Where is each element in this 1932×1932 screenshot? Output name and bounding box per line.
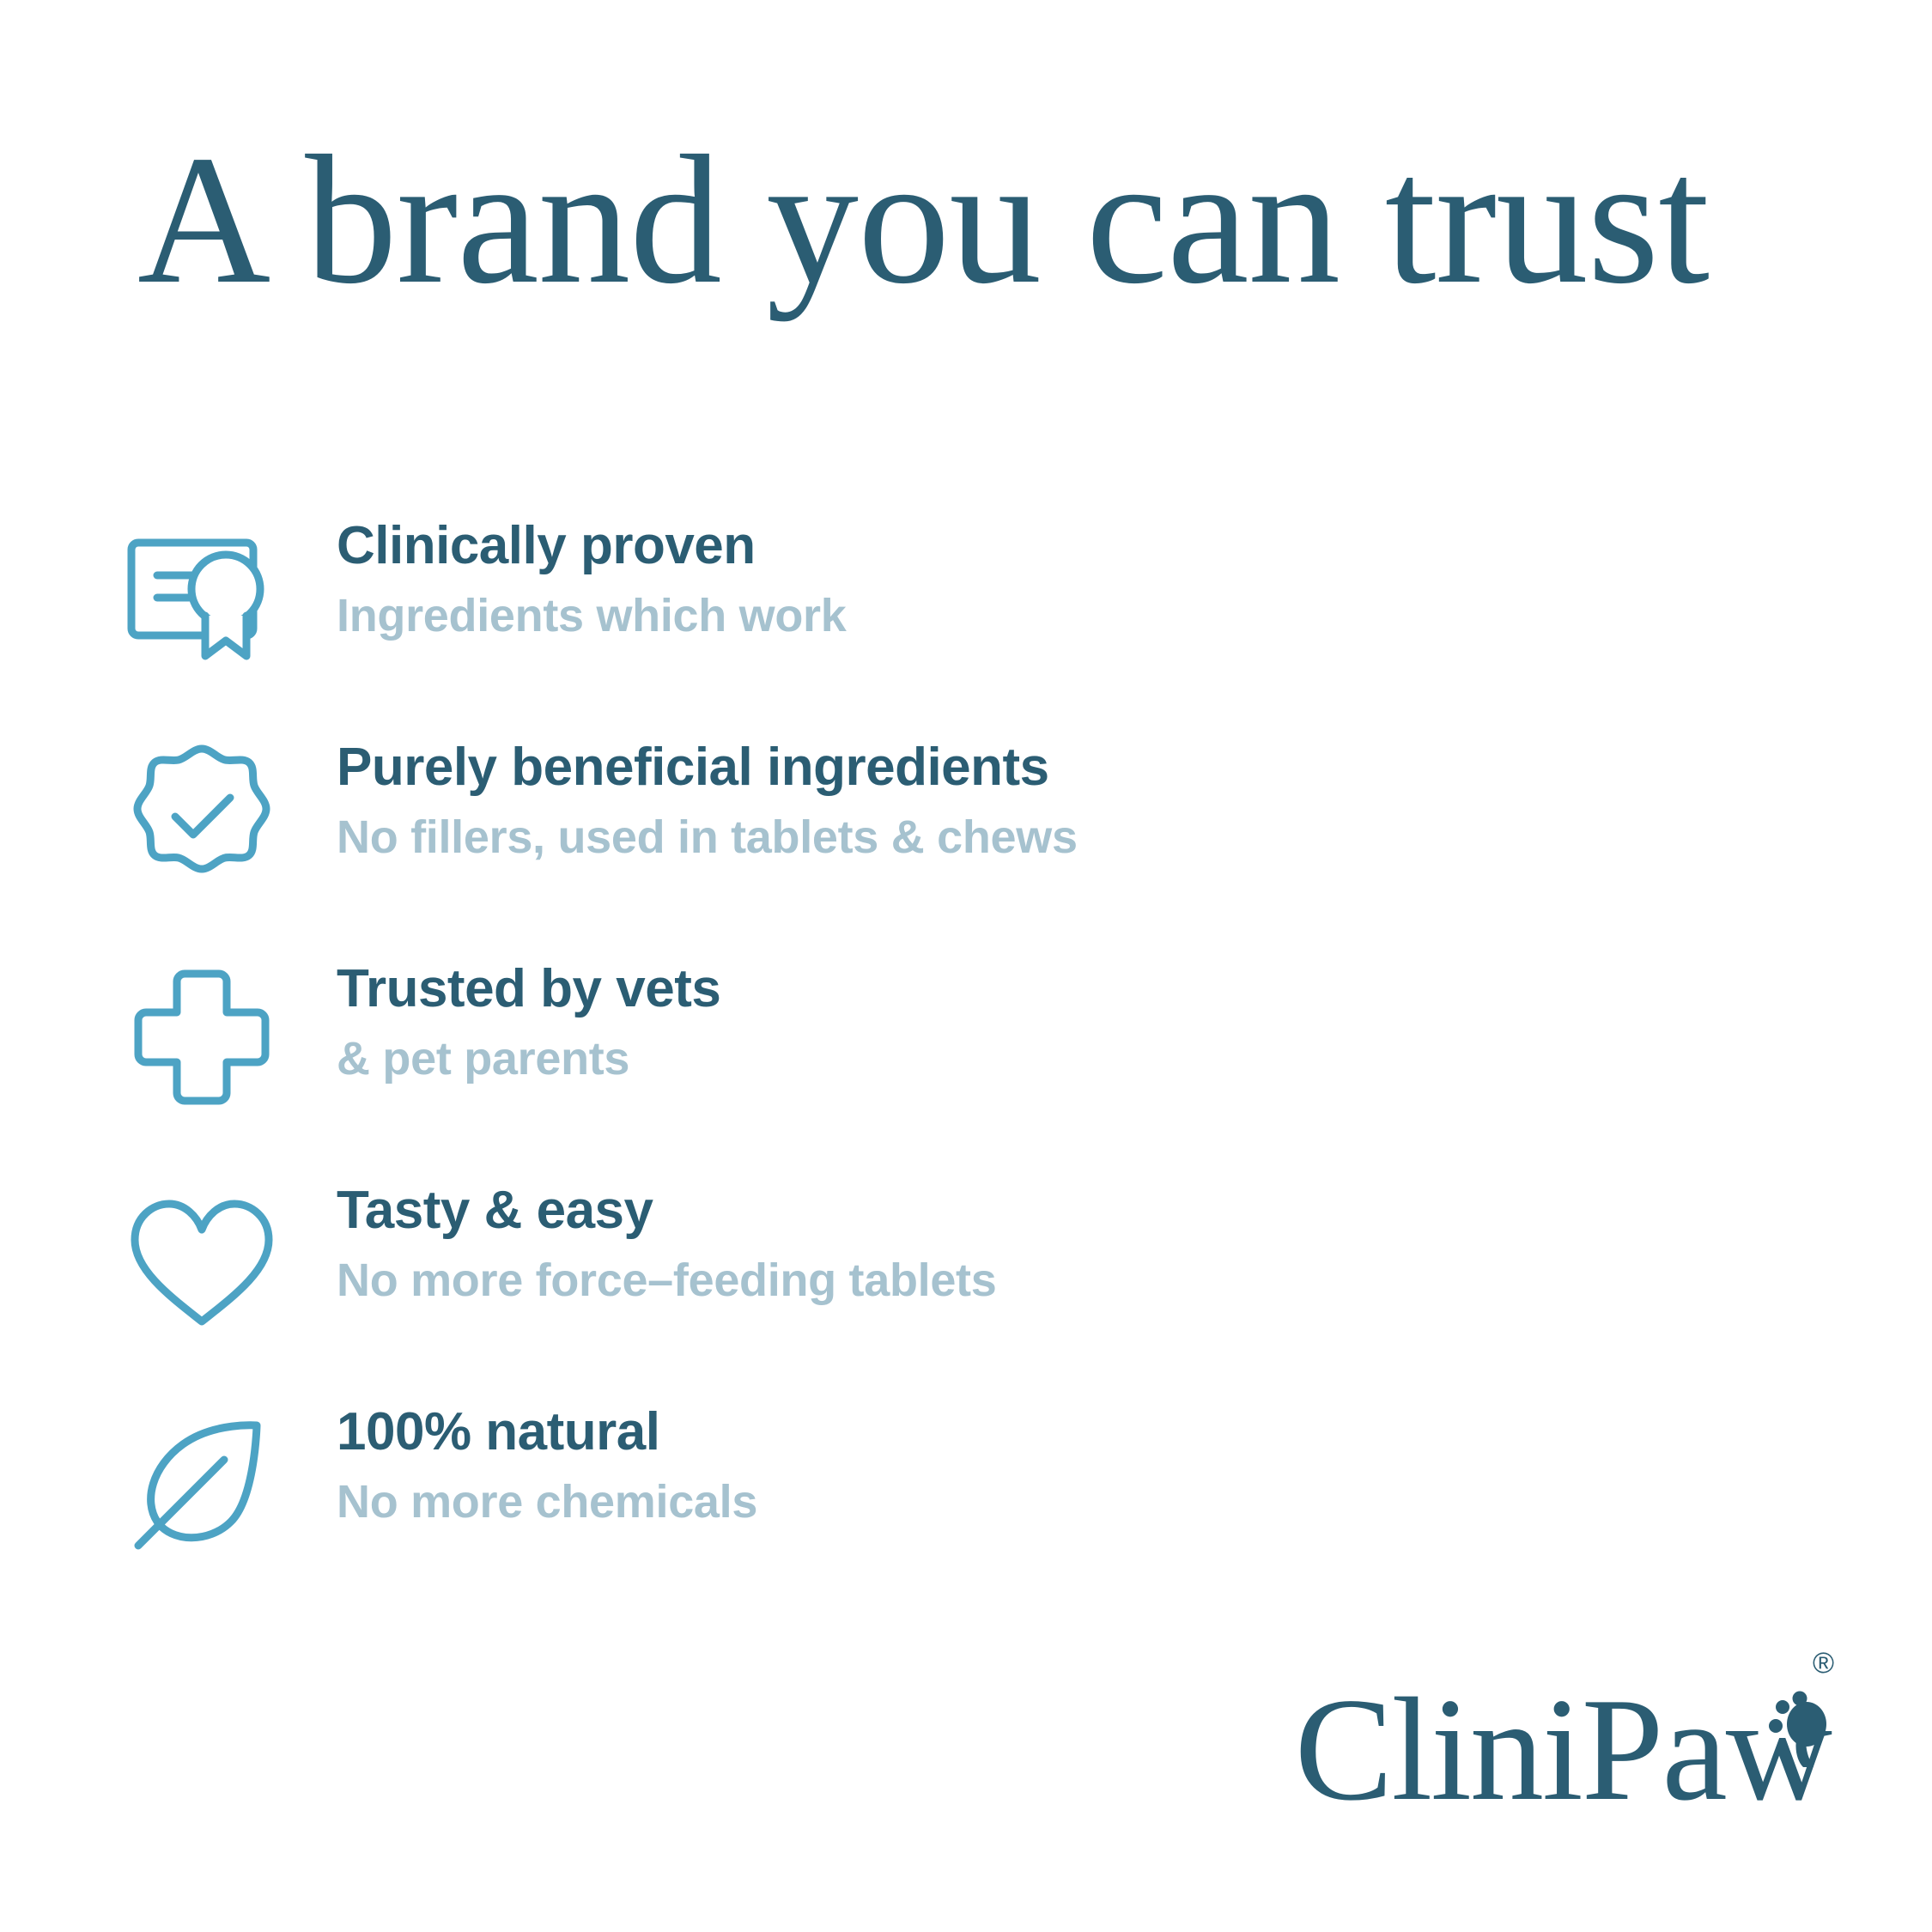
feature-title: Trusted by vets <box>337 959 1803 1018</box>
verified-badge-check-icon <box>120 734 283 897</box>
feature-subtitle: No more chemicals <box>337 1475 1803 1528</box>
feature-text-block: 100% natural No more chemicals <box>337 1397 1803 1529</box>
feature-title: Tasty & easy <box>337 1181 1803 1240</box>
feature-title: Clinically proven <box>337 516 1803 575</box>
clinipaw-logo: CliniPaw ® <box>1295 1676 1831 1824</box>
heart-icon <box>120 1181 283 1344</box>
feature-text-block: Clinically proven Ingredients which work <box>337 511 1803 643</box>
feature-subtitle: No more force–feeding tablets <box>337 1254 1803 1307</box>
feature-title: Purely beneficial ingredients <box>337 738 1803 797</box>
medical-cross-icon <box>120 956 283 1119</box>
certificate-icon <box>120 514 283 677</box>
registered-trademark-symbol: ® <box>1813 1649 1832 1678</box>
page-title: A brand you can trust <box>137 120 1769 319</box>
leaf-icon <box>120 1400 283 1564</box>
logo-wordmark-wrapper: CliniPaw ® <box>1295 1676 1831 1824</box>
paw-print-icon <box>1769 1688 1836 1767</box>
feature-item-tasty-and-easy: Tasty & easy No more force–feeding table… <box>120 1176 1803 1397</box>
feature-list: Clinically proven Ingredients which work… <box>120 511 1803 1619</box>
feature-subtitle: & pet parents <box>337 1032 1803 1085</box>
feature-item-100-natural: 100% natural No more chemicals <box>120 1397 1803 1619</box>
feature-subtitle: No fillers, used in tablets & chews <box>337 811 1803 864</box>
feature-text-block: Tasty & easy No more force–feeding table… <box>337 1176 1803 1308</box>
feature-title: 100% natural <box>337 1402 1803 1461</box>
feature-text-block: Trusted by vets & pet parents <box>337 954 1803 1086</box>
logo-wordmark-text: CliniPaw <box>1295 1668 1831 1832</box>
brand-trust-poster: A brand you can trust Clinically proven … <box>0 0 1932 1932</box>
feature-text-block: Purely beneficial ingredients No fillers… <box>337 732 1803 865</box>
feature-item-purely-beneficial: Purely beneficial ingredients No fillers… <box>120 732 1803 954</box>
feature-subtitle: Ingredients which work <box>337 589 1803 642</box>
feature-item-trusted-by-vets: Trusted by vets & pet parents <box>120 954 1803 1176</box>
feature-item-clinically-proven: Clinically proven Ingredients which work <box>120 511 1803 732</box>
